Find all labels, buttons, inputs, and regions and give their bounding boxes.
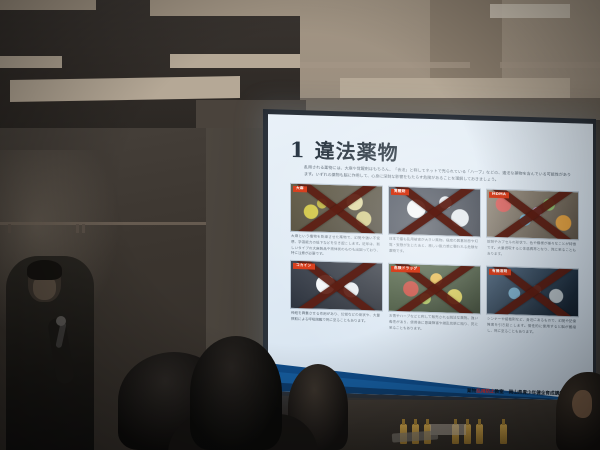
drug-caption: 錠剤やカプセルの形状で、色や模様が様々なことが特徴です。大量摂取すると体温異常と… xyxy=(487,240,576,260)
drug-thumbnail: 有機溶剤 xyxy=(486,266,579,318)
footer-program-post: 教室 xyxy=(495,390,504,395)
drug-badge: 大麻 xyxy=(293,186,307,192)
drug-badge: 危険ドラッグ xyxy=(391,266,420,273)
footer-program-highlight: 乱用防止 xyxy=(476,389,494,395)
drug-caption: シンナーや接着剤など、身近にあるもので、幻覚や記憶障害を引き起こします。慢性的に… xyxy=(487,317,576,337)
grid-item: 有機溶剤 シンナーや接着剤など、身近にあるもので、幻覚や記憶障害を引き起こします… xyxy=(486,266,577,337)
grid-item: 危険ドラッグ お香やハーブなどと称して販売される脱法な薬物。強い毒性があり、使用… xyxy=(388,263,479,334)
drug-caption: お香やハーブなどと称して販売される脱法な薬物。強い毒性があり、使用後に意識障害や… xyxy=(389,314,478,334)
drug-caption: 大麻という植物を乾燥させた薬物で、幻覚や強い不安感、学習能力の低下などを引き起こ… xyxy=(291,234,380,260)
grid-item: コカイン 神経を興奮させる作用があり、幻覚などの症状や、大量摂取による呼吸困難で… xyxy=(290,260,381,331)
slide-number: 1 xyxy=(290,139,304,160)
photo-scene: 1 違法薬物 乱用される薬物には、大麻や覚醒剤はもちろん、「合法」と称してネット… xyxy=(0,0,600,450)
drug-thumbnail: 覚醒剤 xyxy=(388,186,481,238)
ceiling-beam xyxy=(500,62,600,68)
ceiling-beam xyxy=(0,0,96,10)
ceiling-beam xyxy=(300,62,470,68)
drug-thumbnail: MDMA xyxy=(486,189,579,241)
footer-program-pre: 薬物 xyxy=(467,389,476,394)
audience-member xyxy=(190,336,282,450)
drug-grid: 大麻 大麻という植物を乾燥させた薬物で、幻覚や強い不安感、学習能力の低下などを引… xyxy=(290,183,577,337)
drug-badge: コカイン xyxy=(293,263,315,270)
grid-item: 大麻 大麻という植物を乾燥させた薬物で、幻覚や強い不安感、学習能力の低下などを引… xyxy=(290,183,381,260)
slide-title: 違法薬物 xyxy=(315,141,399,163)
curtain-rail xyxy=(0,222,218,225)
ceiling-beam-main xyxy=(10,76,240,102)
drug-thumbnail: 大麻 xyxy=(290,183,383,235)
drug-badge: 有機溶剤 xyxy=(489,269,511,276)
ceiling-beam xyxy=(150,0,300,16)
presenter-hair xyxy=(27,260,62,280)
drug-caption: 日本で最も乱用被害が大きい薬物。極度の興奮状態や幻覚・妄想が生じたあと、激しい脱… xyxy=(389,237,478,257)
microphone-head xyxy=(56,316,66,326)
grid-item: MDMA 錠剤やカプセルの形状で、色や模様が様々なことが特徴です。大量摂取すると… xyxy=(486,189,577,266)
audience-ear xyxy=(572,390,592,418)
bottle xyxy=(476,424,483,444)
drug-badge: 覚醒剤 xyxy=(391,189,409,195)
bottle xyxy=(500,424,507,444)
rail-hook xyxy=(8,224,11,233)
drug-badge: MDMA xyxy=(489,192,509,199)
drug-caption: 神経を興奮させる作用があり、幻覚などの症状や、大量摂取による呼吸困難で死に至るこ… xyxy=(291,311,380,325)
grid-item: 覚醒剤 日本で最も乱用被害が大きい薬物。極度の興奮状態や幻覚・妄想が生じたあと、… xyxy=(388,186,479,263)
drug-thumbnail: コカイン xyxy=(290,260,383,312)
ceiling-beam-main xyxy=(340,78,570,98)
ceiling-beam xyxy=(0,56,62,68)
rail-hook xyxy=(82,224,85,233)
ceiling-beam xyxy=(170,54,300,68)
projection-screen: 1 違法薬物 乱用される薬物には、大麻や覚醒剤はもちろん、「合法」と称してネット… xyxy=(268,114,593,401)
rail-hook xyxy=(76,224,79,233)
drug-thumbnail: 危険ドラッグ xyxy=(388,263,481,315)
ceiling-light xyxy=(490,4,570,18)
